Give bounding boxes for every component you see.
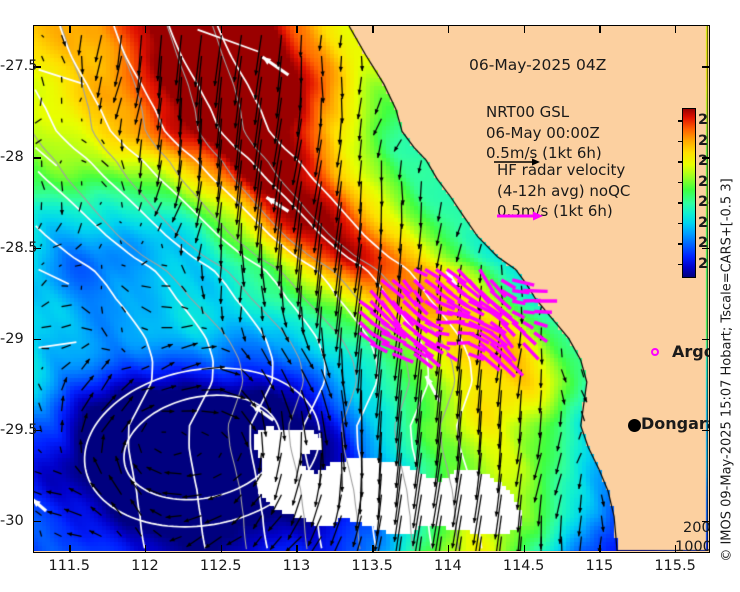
y-axis-labels: -27.5-28-28.5-29-29.5-30 xyxy=(0,0,740,592)
y-tick-label: -29 xyxy=(0,331,22,347)
y-tick-label: -30 xyxy=(0,513,22,529)
y-tick-label: -29.5 xyxy=(0,422,22,438)
y-tick-label: -28 xyxy=(0,149,22,165)
y-tick-label: -28.5 xyxy=(0,240,22,256)
y-tick-label: -27.5 xyxy=(0,58,22,74)
credit-text: © IMOS 09-May-2025 15:07 Hobart; Tscale=… xyxy=(720,178,735,561)
